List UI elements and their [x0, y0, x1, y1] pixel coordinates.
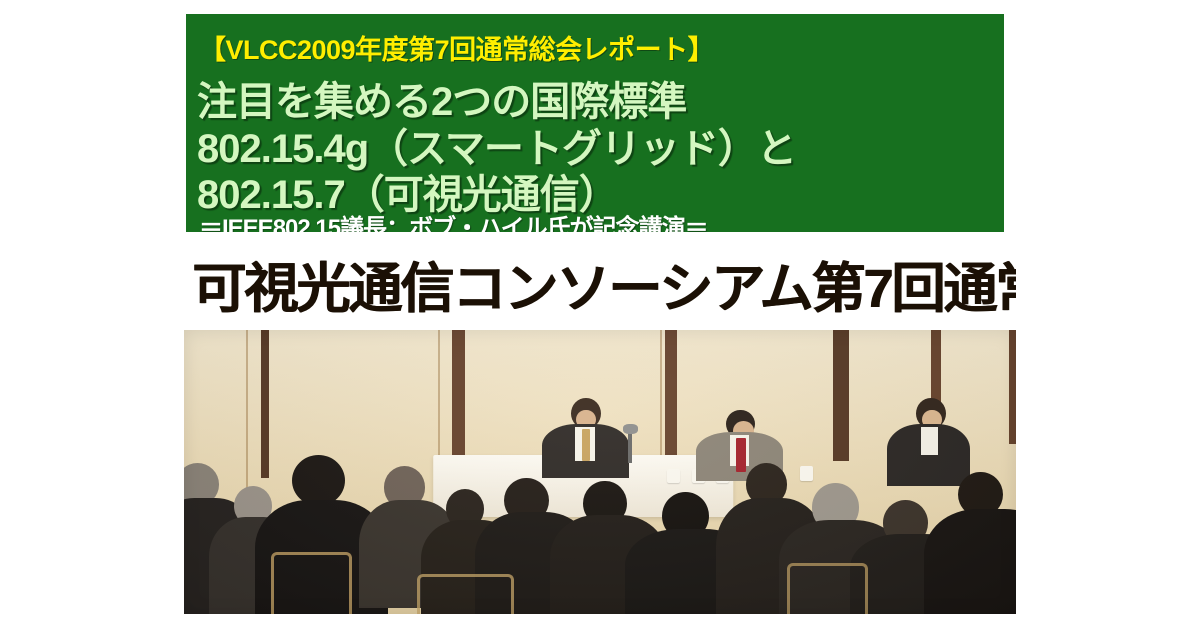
- headline-strip-text: 可視光通信コンソーシアム第7回通常総会: [192, 244, 1016, 323]
- conference-photo: [184, 330, 1016, 614]
- banner-kicker: 【VLCC2009年度第7回通常総会レポート】: [199, 28, 714, 67]
- headline-strip: 可視光通信コンソーシアム第7回通常総会: [186, 238, 1016, 326]
- banner-subtitle: ＝IEEE802.15議長：ボブ・ハイル氏が記念講演＝: [199, 208, 708, 232]
- article-header-graphic: 【VLCC2009年度第7回通常総会レポート】 注目を集める2つの国際標準 80…: [0, 0, 1200, 630]
- green-title-banner: 【VLCC2009年度第7回通常総会レポート】 注目を集める2つの国際標準 80…: [186, 14, 1004, 232]
- photo-soft-overlay: [184, 330, 1016, 614]
